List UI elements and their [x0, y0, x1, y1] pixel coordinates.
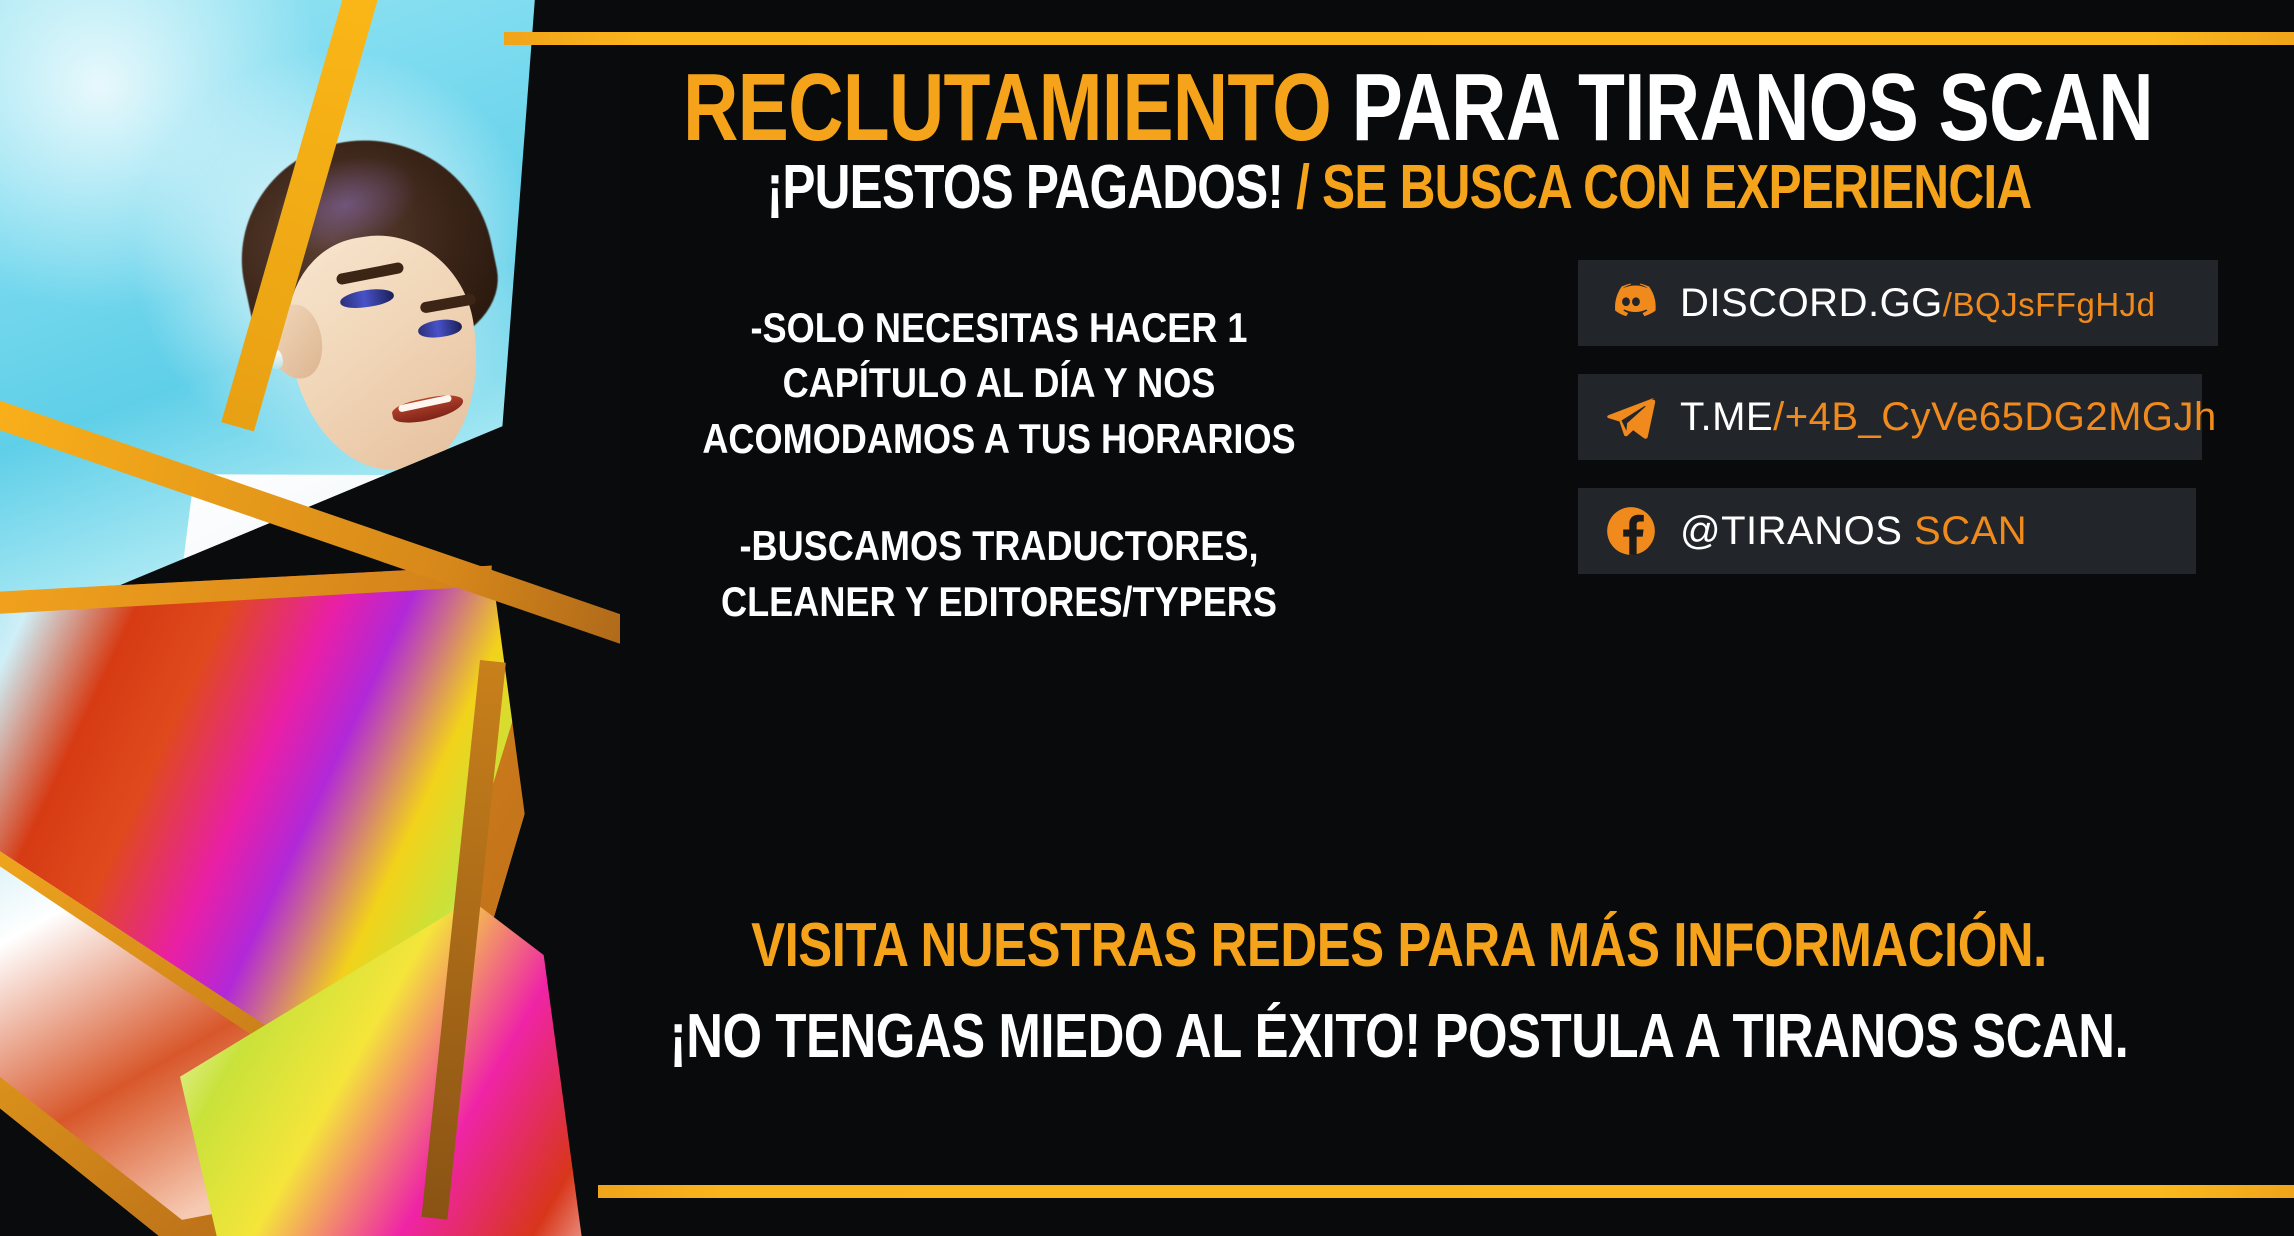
page-subtitle: ¡PUESTOS PAGADOS! / SE BUSCA CON EXPERIE…: [683, 155, 2115, 220]
title-plain: PARA TIRANOS SCAN: [1331, 54, 2153, 161]
contact-card-facebook[interactable]: @TIRANOS SCAN: [1578, 488, 2196, 574]
facebook-icon: [1604, 504, 1658, 558]
telegram-icon: [1604, 390, 1658, 444]
telegram-invite-code: /+4B_CyVe65DG2MGJh: [1773, 395, 2217, 439]
contact-links: DISCORD.GG/BQJsFFgHJd T.ME/+4B_CyVe65DG2…: [1578, 260, 2238, 602]
discord-icon: [1604, 276, 1658, 330]
discord-invite-code: /BQJsFFgHJd: [1943, 286, 2156, 323]
cta-line-1: VISITA NUESTRAS REDES PARA MÁS INFORMACI…: [665, 910, 2133, 981]
discord-domain: DISCORD.GG: [1680, 281, 1943, 325]
cta-line-2: ¡NO TENGAS MIEDO AL ÉXITO! POSTULA A TIR…: [665, 1001, 2133, 1072]
call-to-action: VISITA NUESTRAS REDES PARA MÁS INFORMACI…: [504, 910, 2294, 1072]
requirement-item: -BUSCAMOS TRADUCTORES, CLEANER Y EDITORE…: [685, 518, 1313, 629]
facebook-handle: @TIRANOS: [1680, 509, 1902, 553]
telegram-domain: T.ME: [1680, 395, 1773, 439]
telegram-link-text: T.ME/+4B_CyVe65DG2MGJh: [1680, 395, 2217, 440]
discord-link-text: DISCORD.GG/BQJsFFgHJd: [1680, 281, 2156, 326]
recruitment-banner: RECLUTAMIENTO PARA TIRANOS SCAN ¡PUESTOS…: [0, 0, 2294, 1236]
title-accent: RECLUTAMIENTO: [683, 54, 1331, 161]
page-title: RECLUTAMIENTO PARA TIRANOS SCAN: [683, 58, 2115, 159]
requirements-list: -SOLO NECESITAS HACER 1 CAPÍTULO AL DÍA …: [634, 300, 1364, 629]
requirement-item: -SOLO NECESITAS HACER 1 CAPÍTULO AL DÍA …: [685, 300, 1313, 466]
subtitle-accent: / SE BUSCA CON EXPERIENCIA: [1283, 153, 2031, 222]
content-panel: RECLUTAMIENTO PARA TIRANOS SCAN ¡PUESTOS…: [504, 0, 2294, 1236]
contact-card-discord[interactable]: DISCORD.GG/BQJsFFgHJd: [1578, 260, 2218, 346]
subtitle-plain: ¡PUESTOS PAGADOS!: [767, 153, 1283, 222]
contact-card-telegram[interactable]: T.ME/+4B_CyVe65DG2MGJh: [1578, 374, 2202, 460]
facebook-handle-text: @TIRANOS SCAN: [1680, 509, 2027, 554]
facebook-handle-suffix: SCAN: [1902, 509, 2027, 553]
